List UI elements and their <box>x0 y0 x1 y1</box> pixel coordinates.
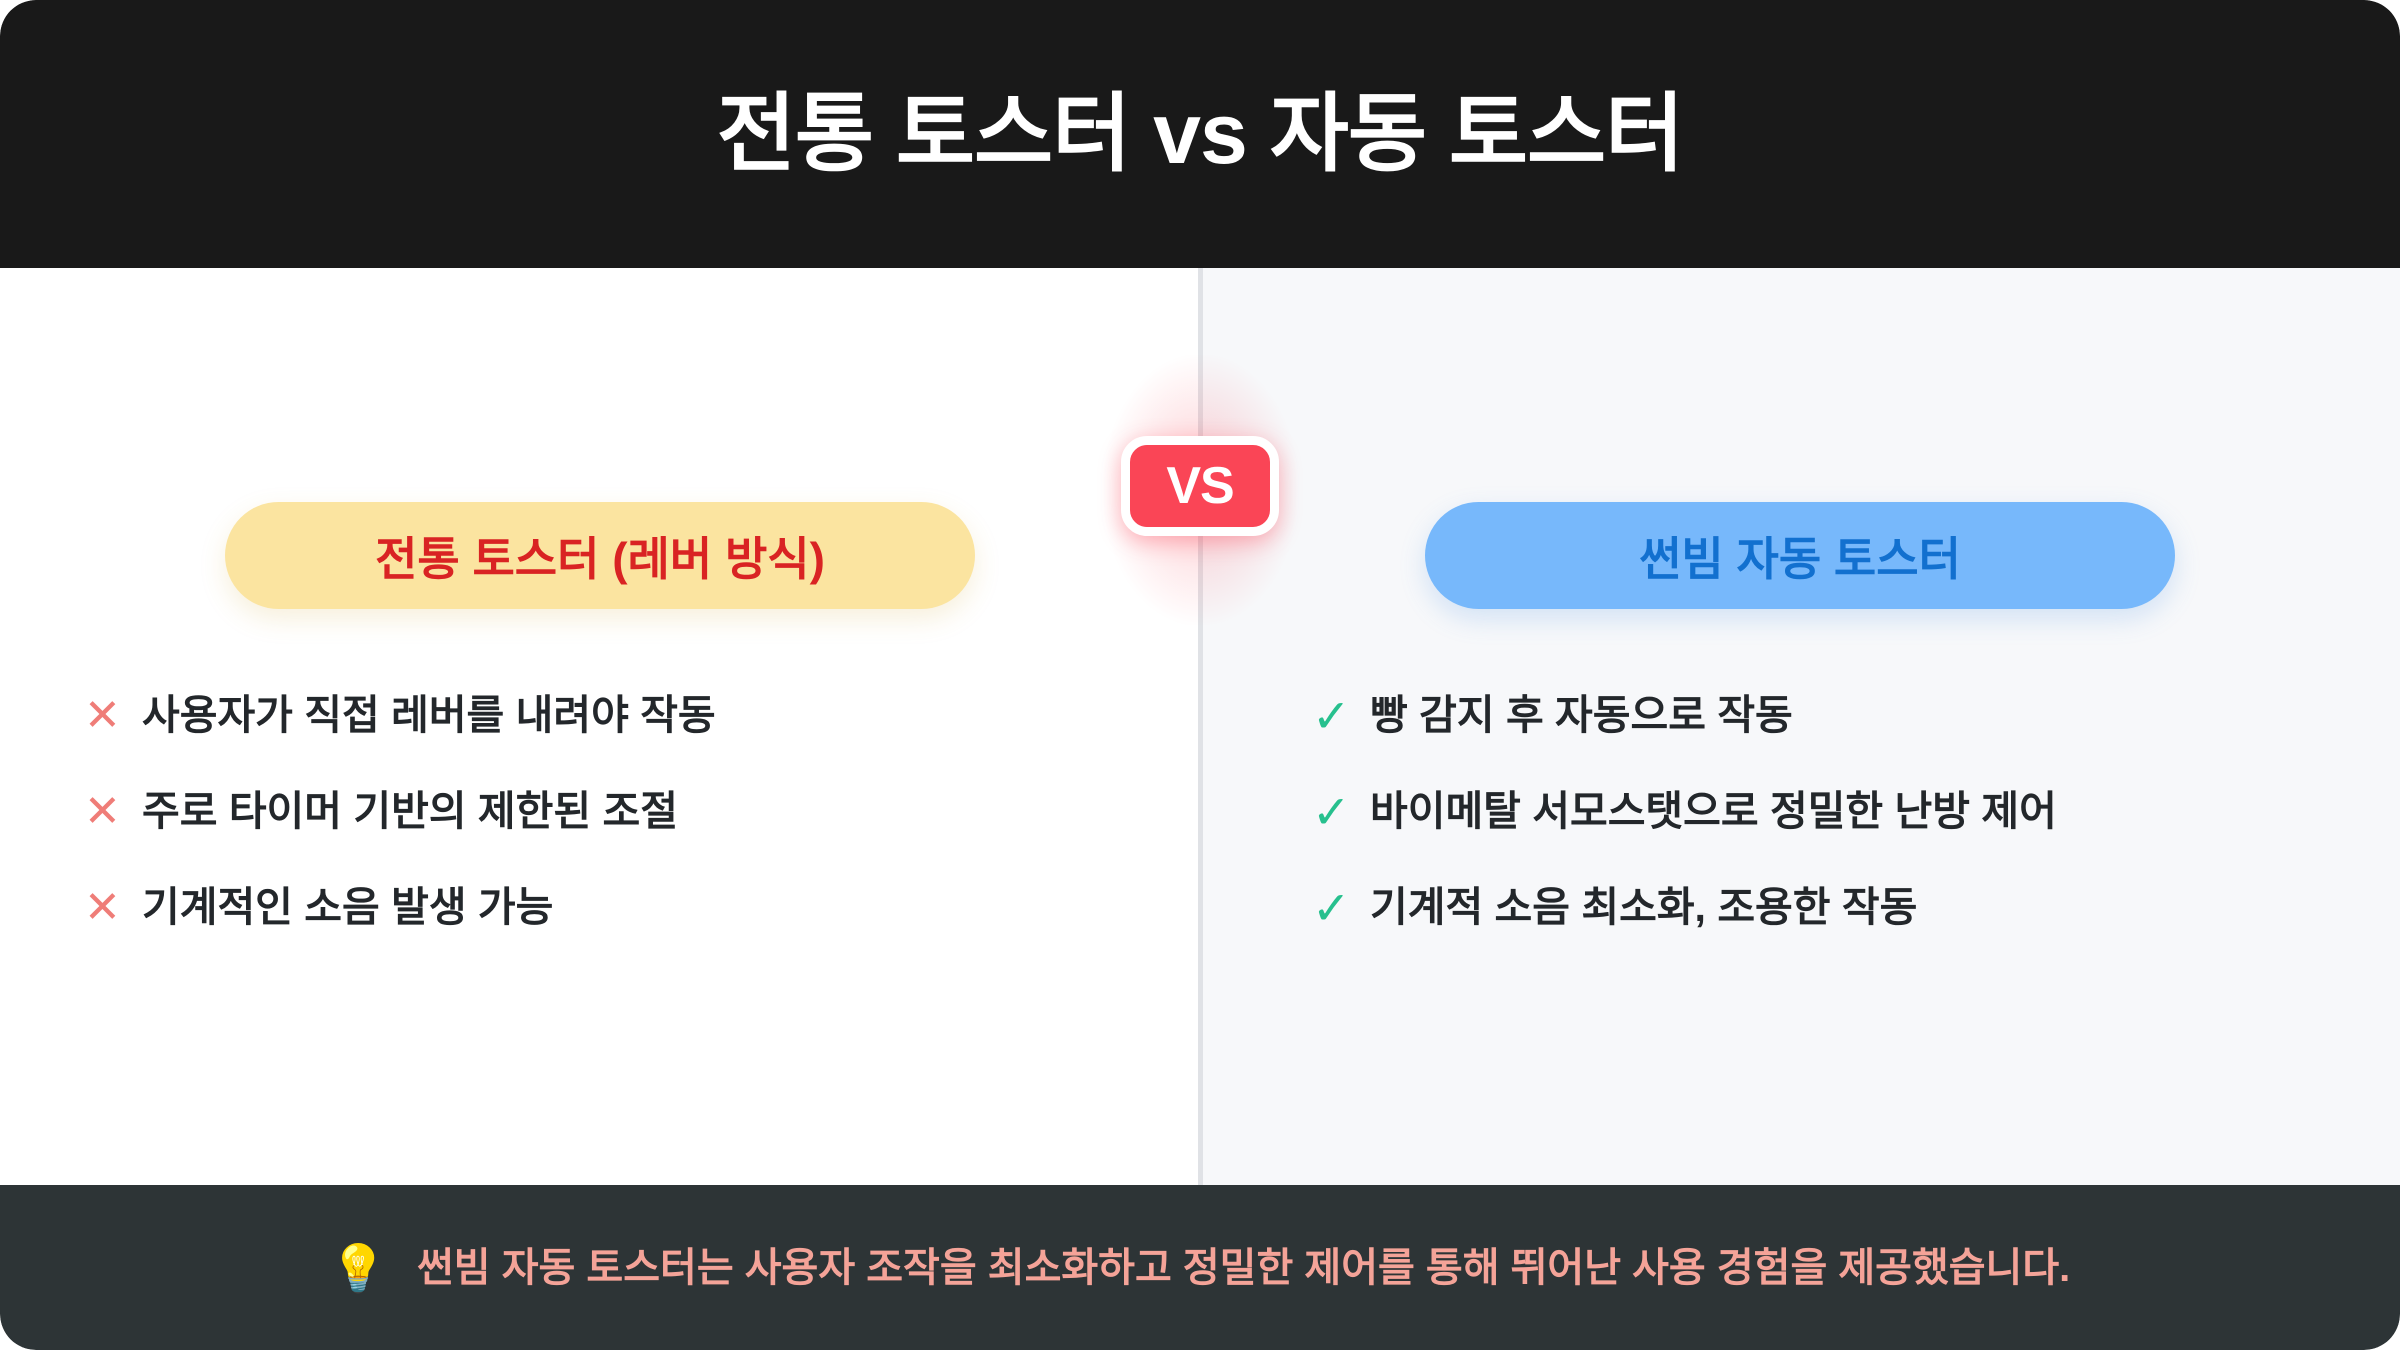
page-title: 전통 토스터 vs 자동 토스터 <box>717 91 1683 177</box>
versus-label: VS <box>1166 460 1233 512</box>
lightbulb-icon: 💡 <box>330 1245 387 1291</box>
cross-icon: ✕ <box>84 790 142 834</box>
footer-content: 💡 썬빔 자동 토스터는 사용자 조작을 최소화하고 정밀한 제어를 통해 뛰어… <box>330 1244 2071 1292</box>
badge-traditional-toaster: 전통 토스터 (레버 방식) <box>225 502 975 609</box>
badge-sunbeam-label: 썬빔 자동 토스터 <box>1639 523 1961 589</box>
panel-divider <box>1198 268 1203 1185</box>
versus-badge: VS <box>1121 436 1279 536</box>
list-item-label: 주로 타이머 기반의 제한된 조절 <box>142 787 678 836</box>
list-item: ✕ 사용자가 직접 레버를 내려야 작동 <box>84 683 1200 749</box>
list-item: ✓ 빵 감지 후 자동으로 작동 <box>1312 683 2400 749</box>
panel-traditional-toaster: 전통 토스터 (레버 방식) ✕ 사용자가 직접 레버를 내려야 작동 ✕ 주로… <box>0 268 1200 1185</box>
check-icon: ✓ <box>1312 693 1370 739</box>
check-icon: ✓ <box>1312 885 1370 931</box>
list-item-label: 사용자가 직접 레버를 내려야 작동 <box>142 691 716 740</box>
feature-list-traditional: ✕ 사용자가 직접 레버를 내려야 작동 ✕ 주로 타이머 기반의 제한된 조절… <box>0 683 1200 971</box>
header-bar: 전통 토스터 vs 자동 토스터 <box>0 0 2400 268</box>
list-item: ✓ 기계적 소음 최소화, 조용한 작동 <box>1312 875 2400 941</box>
list-item-label: 기계적 소음 최소화, 조용한 작동 <box>1370 883 1917 932</box>
list-item: ✕ 주로 타이머 기반의 제한된 조절 <box>84 779 1200 845</box>
list-item-label: 바이메탈 서모스탯으로 정밀한 난방 제어 <box>1370 787 2057 836</box>
list-item: ✕ 기계적인 소음 발생 가능 <box>84 875 1200 941</box>
comparison-infographic-card: 전통 토스터 vs 자동 토스터 전통 토스터 (레버 방식) ✕ 사용자가 직… <box>0 0 2400 1350</box>
badge-traditional-label: 전통 토스터 (레버 방식) <box>375 523 825 589</box>
check-icon: ✓ <box>1312 789 1370 835</box>
badge-sunbeam-toaster: 썬빔 자동 토스터 <box>1425 502 2175 609</box>
footer-summary-text: 썬빔 자동 토스터는 사용자 조작을 최소화하고 정밀한 제어를 통해 뛰어난 … <box>417 1244 2070 1292</box>
list-item-label: 기계적인 소음 발생 가능 <box>142 883 553 932</box>
cross-icon: ✕ <box>84 694 142 738</box>
feature-list-sunbeam: ✓ 빵 감지 후 자동으로 작동 ✓ 바이메탈 서모스탯으로 정밀한 난방 제어… <box>1200 683 2400 971</box>
footer-bar: 💡 썬빔 자동 토스터는 사용자 조작을 최소화하고 정밀한 제어를 통해 뛰어… <box>0 1185 2400 1350</box>
list-item-label: 빵 감지 후 자동으로 작동 <box>1370 691 1793 740</box>
panel-sunbeam-auto-toaster: 썬빔 자동 토스터 ✓ 빵 감지 후 자동으로 작동 ✓ 바이메탈 서모스탯으로… <box>1200 268 2400 1185</box>
cross-icon: ✕ <box>84 886 142 930</box>
list-item: ✓ 바이메탈 서모스탯으로 정밀한 난방 제어 <box>1312 779 2400 845</box>
